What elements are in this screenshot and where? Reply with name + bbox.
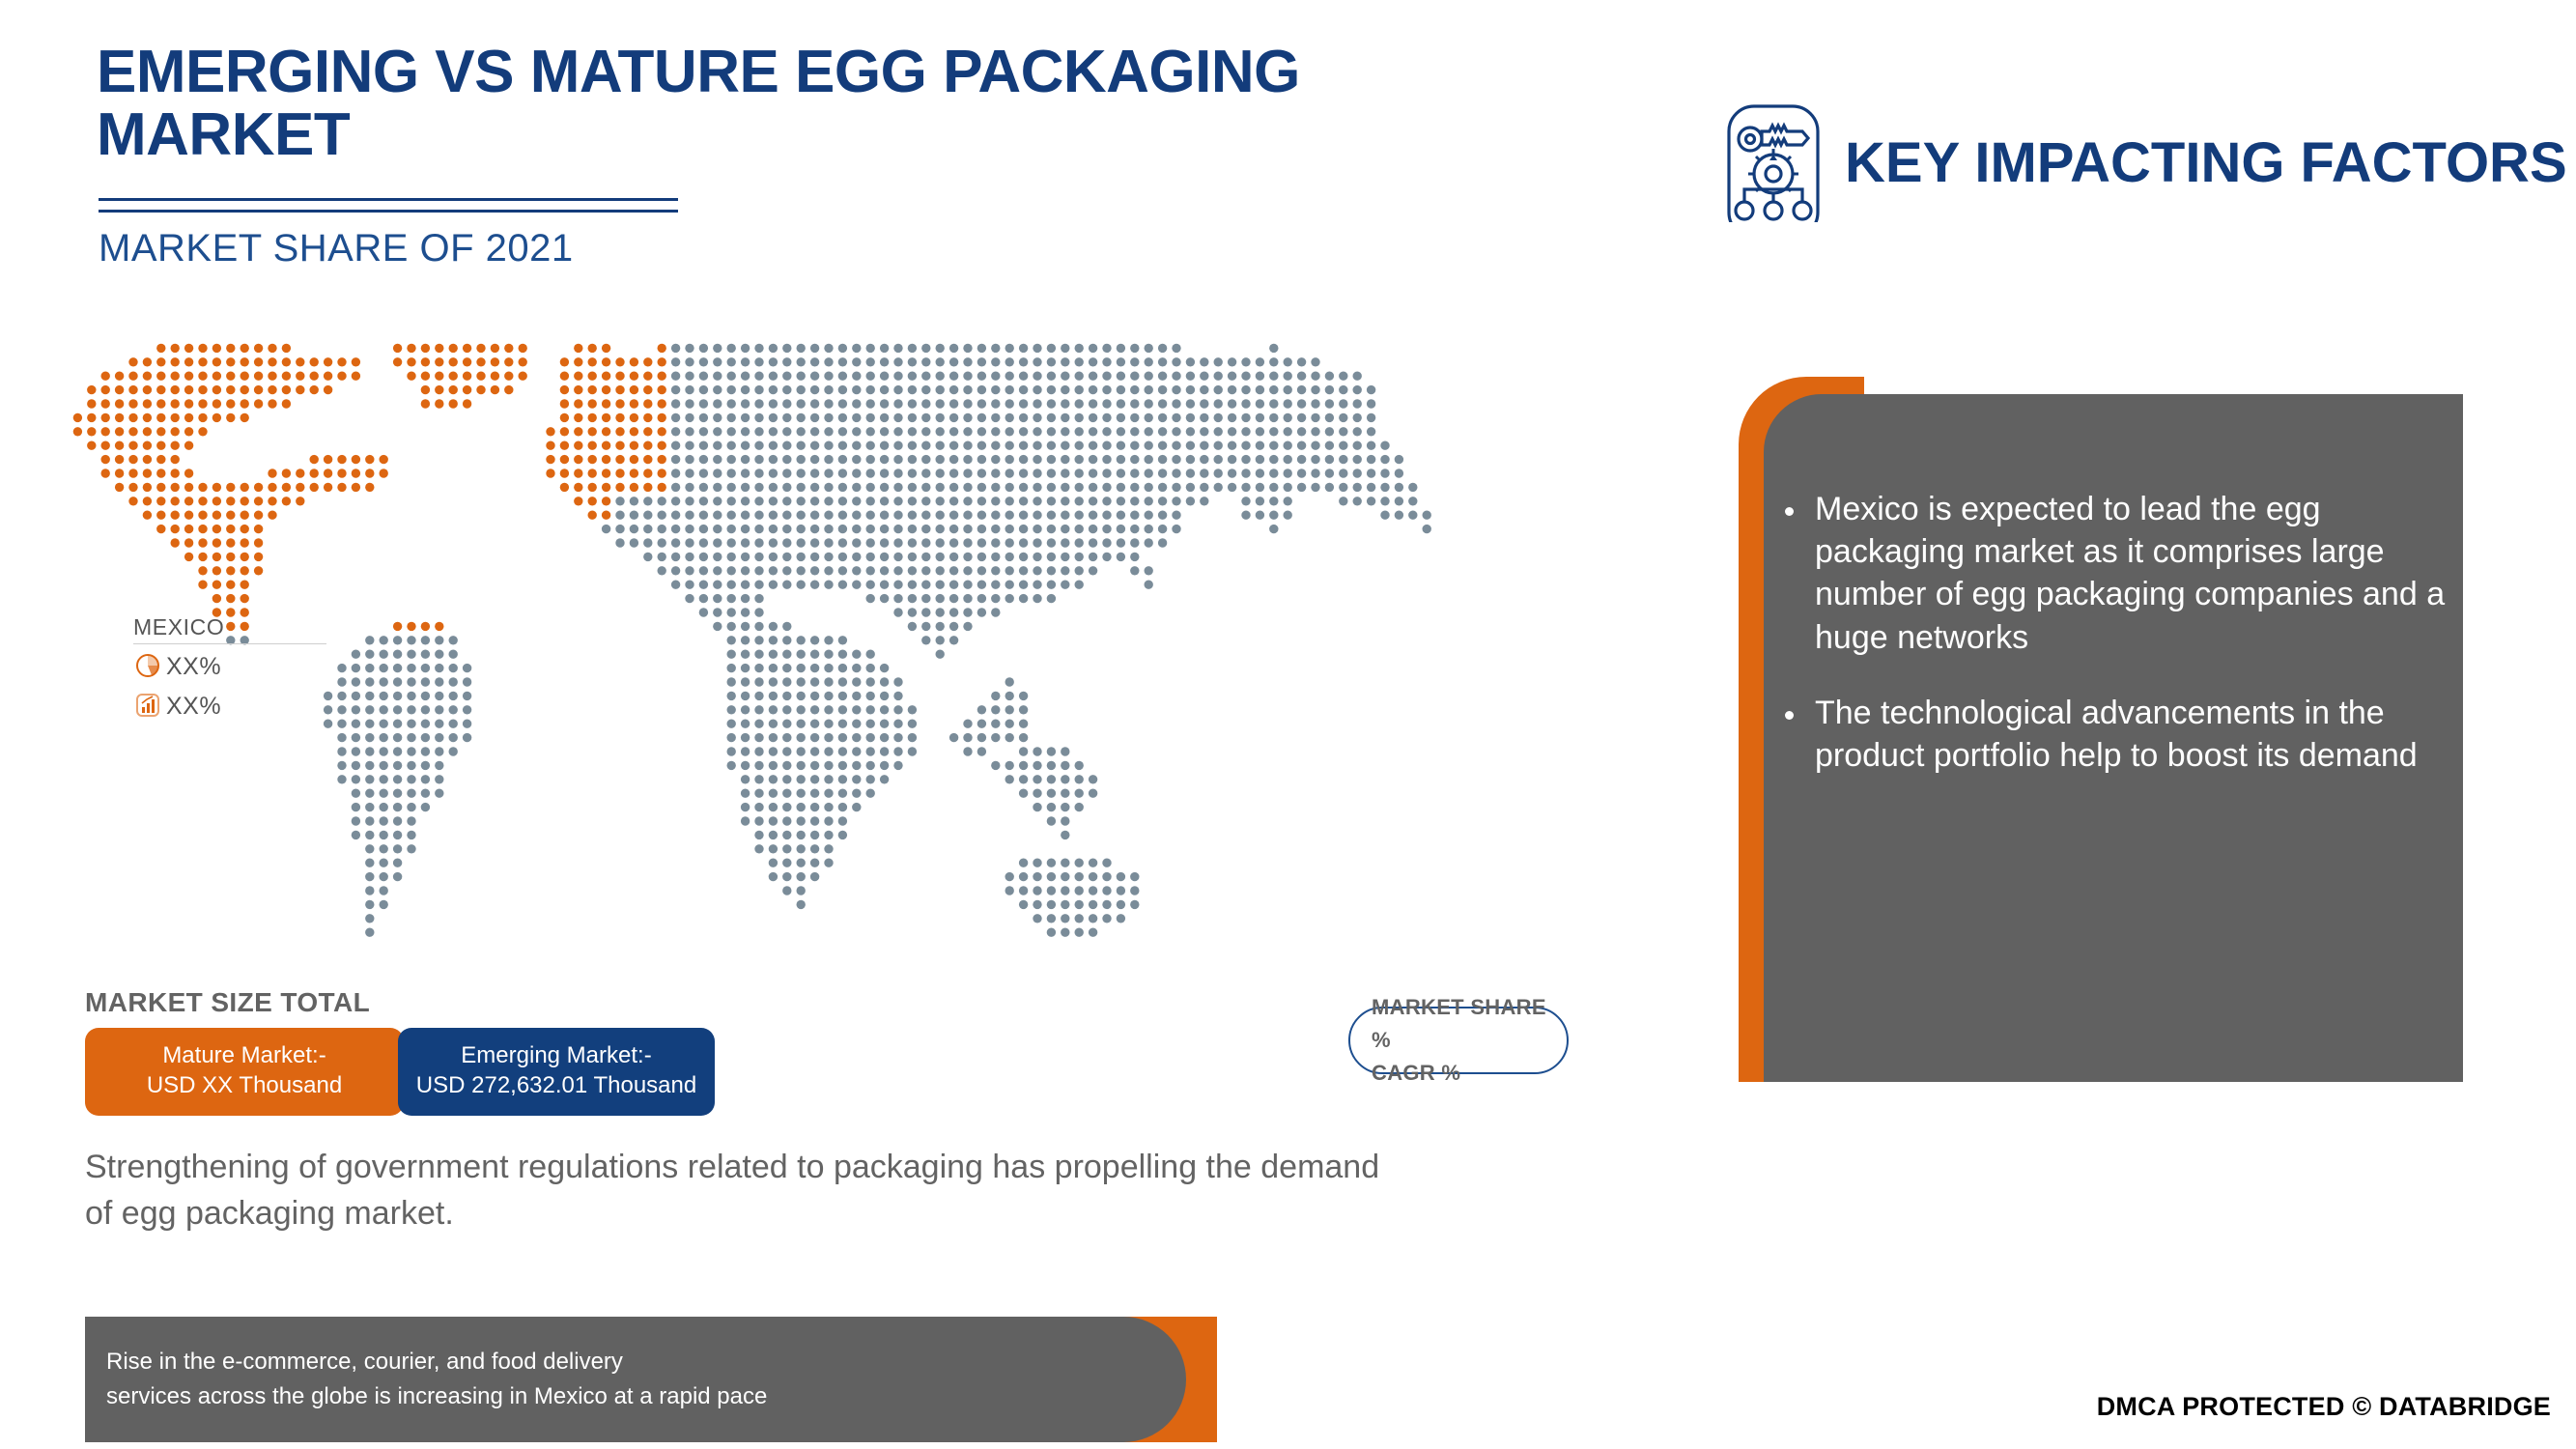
mexico-callout: MEXICO XX% XX% — [133, 614, 336, 724]
mexico-label: MEXICO — [133, 614, 336, 640]
mature-market-pill[interactable]: Mature Market:- USD XX Thousand — [85, 1028, 404, 1116]
bottom-banner-line2: services across the globe is increasing … — [106, 1379, 1120, 1414]
bullet-dot-icon — [1785, 711, 1794, 720]
key-gear-network-icon — [1727, 104, 1820, 222]
mexico-cagr-value: XX% — [166, 693, 221, 721]
legend-market-share: MARKET SHARE % — [1372, 991, 1567, 1057]
market-size-total-label: MARKET SIZE TOTAL — [85, 987, 370, 1018]
emerging-market-pill[interactable]: Emerging Market:- USD 272,632.01 Thousan… — [398, 1028, 715, 1116]
legend-cagr: CAGR % — [1372, 1057, 1567, 1090]
map-legend: MARKET SHARE % CAGR % — [1348, 1007, 1569, 1074]
list-item: Mexico is expected to lead the egg packa… — [1785, 488, 2461, 659]
title-divider — [99, 198, 678, 213]
page-title: EMERGING VS MATURE EGG PACKAGING MARKET — [97, 41, 1545, 166]
list-item: The technological advancements in the pr… — [1785, 692, 2461, 777]
key-impacting-factors-header: KEY IMPACTING FACTORS — [1727, 104, 2567, 222]
emerging-market-line2: USD 272,632.01 Thousand — [408, 1071, 705, 1101]
key-impacting-factors-title: KEY IMPACTING FACTORS — [1845, 134, 2567, 192]
mexico-market-share-row: XX% — [133, 650, 336, 684]
mexico-market-share-value: XX% — [166, 653, 221, 681]
bottom-banner-text: Rise in the e-commerce, courier, and foo… — [106, 1345, 1120, 1414]
emerging-market-line1: Emerging Market:- — [408, 1041, 705, 1071]
factor-text: Mexico is expected to lead the egg packa… — [1815, 488, 2461, 659]
mexico-cagr-row: XX% — [133, 690, 336, 724]
page-subtitle: MARKET SHARE OF 2021 — [99, 227, 574, 270]
dmca-footer: DMCA PROTECTED © DATABRIDGE — [2097, 1392, 2551, 1422]
pie-chart-icon — [133, 650, 162, 684]
mexico-divider — [133, 643, 326, 644]
bar-chart-icon — [133, 690, 162, 724]
factors-bullet-list: Mexico is expected to lead the egg packa… — [1785, 488, 2461, 810]
bottom-banner-line1: Rise in the e-commerce, courier, and foo… — [106, 1345, 1120, 1379]
bullet-dot-icon — [1785, 507, 1794, 516]
mature-market-line2: USD XX Thousand — [95, 1071, 394, 1101]
factor-text: The technological advancements in the pr… — [1815, 692, 2461, 777]
insight-paragraph: Strengthening of government regulations … — [85, 1144, 1389, 1237]
mature-market-line1: Mature Market:- — [95, 1041, 394, 1071]
